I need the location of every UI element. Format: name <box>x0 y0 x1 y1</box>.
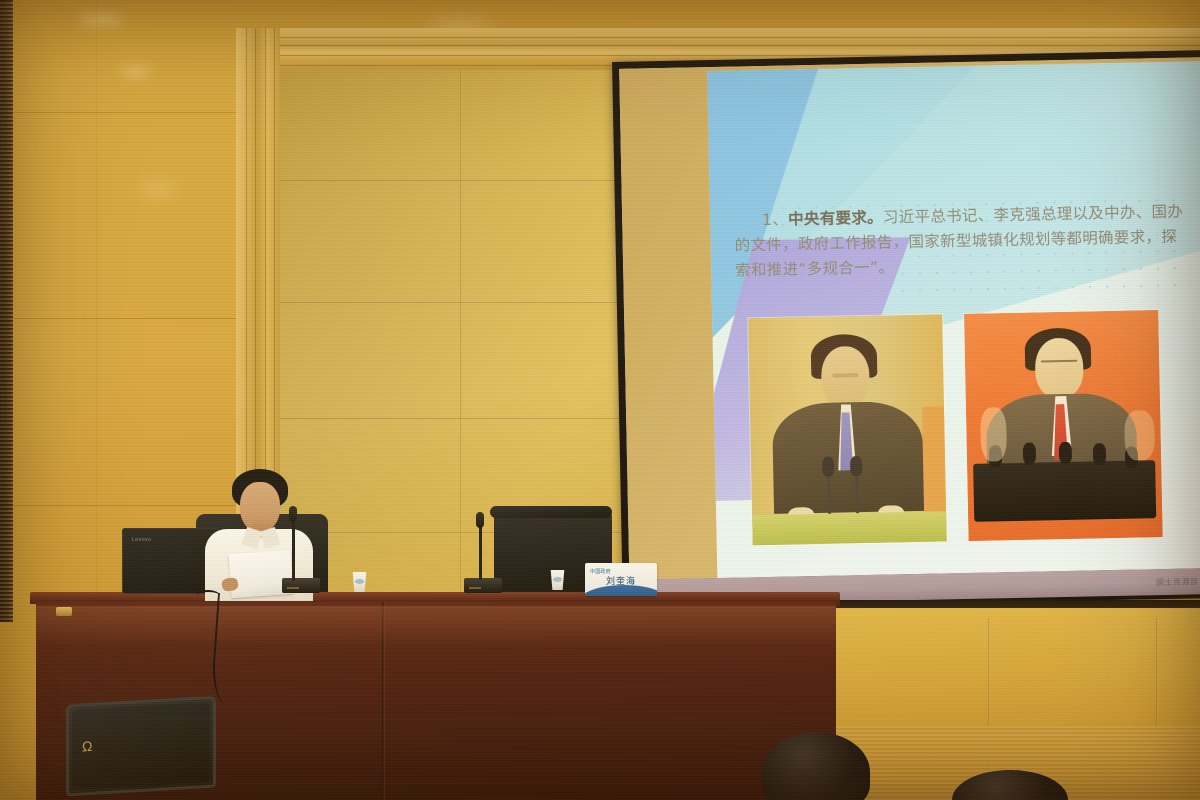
chair-headrest <box>490 506 612 518</box>
laptop-brand-label: Lenovo <box>132 537 151 543</box>
slide-photo-li-keqiang <box>964 310 1163 541</box>
wall-seam <box>14 112 236 113</box>
wall-seam <box>14 505 236 506</box>
presentation-slide: 1、中央有要求。习近平总书记、李克强总理以及中办、国办的文件，政府工作报告，国家… <box>707 61 1200 578</box>
slide-photo-xi-jinping <box>748 314 947 545</box>
slide-heading-bold: 中央有要求。 <box>788 209 883 229</box>
table-badge <box>56 607 72 616</box>
conference-photo-scene: 1、中央有要求。习近平总书记、李克强总理以及中办、国办的文件，政府工作报告，国家… <box>0 0 1200 800</box>
name-plate: 中国政府 刘奎海 <box>585 563 657 596</box>
microphone-neck-speaker <box>292 519 295 581</box>
ceiling-light-reflection <box>140 185 176 194</box>
microphone-neck-second <box>479 524 482 580</box>
table-sheen <box>36 606 836 646</box>
microphone-head-speaker <box>289 506 297 522</box>
microphone-base-second[interactable] <box>464 578 502 593</box>
screen-surface: 1、中央有要求。习近平总书记、李克强总理以及中办、国办的文件，政府工作报告，国家… <box>619 57 1200 580</box>
slide-photo-row <box>748 310 1173 550</box>
slide-body-text: 1、中央有要求。习近平总书记、李克强总理以及中办、国办的文件，政府工作报告，国家… <box>734 199 1190 283</box>
microphone-head-second <box>476 512 484 528</box>
ceiling-light-reflection <box>78 16 124 24</box>
slide-body-line1: 习近平总书记、李克强总理以及中办、 <box>883 203 1152 226</box>
projection-screen: 1、中央有要求。习近平总书记、李克强总理以及中办、国办的文件，政府工作报告，国家… <box>612 50 1200 610</box>
microphone-base-speaker[interactable] <box>282 578 320 593</box>
slide-heading-number: 1、 <box>762 210 788 229</box>
monitor-logo: Ω <box>82 739 94 756</box>
ceiling-light-reflection <box>120 68 150 75</box>
floor-monitor-speaker: Ω <box>66 696 216 797</box>
slide-watermark: 国土资源部 <box>1156 576 1199 588</box>
wall-seam <box>96 0 97 620</box>
wall-grille-strip <box>0 0 13 622</box>
wall-seam <box>14 318 236 319</box>
